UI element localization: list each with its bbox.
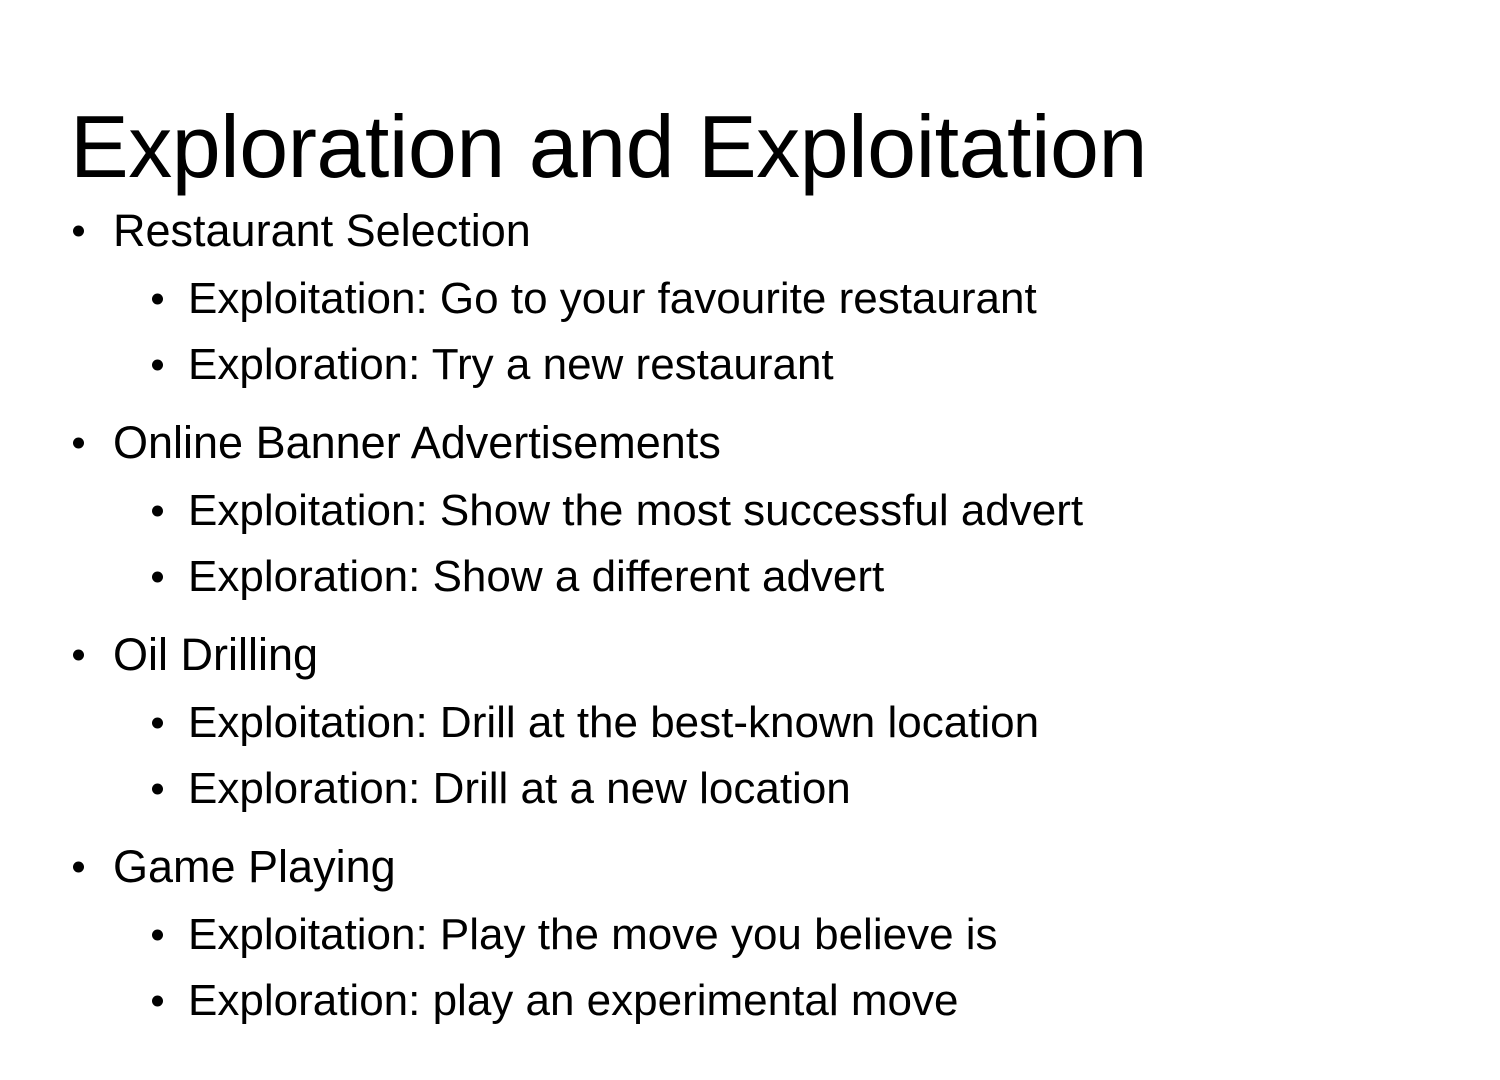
list-item-level2: Exploration: play an experimental move <box>0 968 1500 1034</box>
list-item-level2: Exploration: Try a new restaurant <box>0 332 1500 398</box>
list-item-level2: Exploitation: Drill at the best-known lo… <box>0 690 1500 756</box>
list-item-level2: Exploitation: Play the move you believe … <box>0 902 1500 968</box>
slide-body-list: Restaurant Selection Exploitation: Go to… <box>0 196 1500 1034</box>
list-item-label: Exploitation: Drill at the best-known lo… <box>188 695 1039 751</box>
round-bullet-icon <box>73 650 84 661</box>
list-item-level2: Exploration: Drill at a new location <box>0 756 1500 822</box>
round-bullet-icon <box>152 572 163 583</box>
list-item-level2: Exploitation: Show the most successful a… <box>0 478 1500 544</box>
list-item-level1: Restaurant Selection <box>0 196 1500 266</box>
list-item-label: Oil Drilling <box>113 627 318 683</box>
list-item-label: Restaurant Selection <box>113 203 531 259</box>
round-bullet-icon <box>152 294 163 305</box>
list-item-level1: Oil Drilling <box>0 620 1500 690</box>
round-bullet-icon <box>73 862 84 873</box>
bullet-group-oil-drilling: Oil Drilling Exploitation: Drill at the … <box>0 620 1500 822</box>
list-item-level2: Exploitation: Go to your favourite resta… <box>0 266 1500 332</box>
list-item-level1: Online Banner Advertisements <box>0 408 1500 478</box>
round-bullet-icon <box>152 506 163 517</box>
page-title: Exploration and Exploitation <box>70 91 1430 203</box>
slide: Exploration and Exploitation Restaurant … <box>0 0 1500 1080</box>
bullet-group-online-banner-advertisements: Online Banner Advertisements Exploitatio… <box>0 408 1500 610</box>
bullet-group-game-playing: Game Playing Exploitation: Play the move… <box>0 832 1500 1034</box>
round-bullet-icon <box>152 784 163 795</box>
round-bullet-icon <box>152 930 163 941</box>
list-item-label: Exploration: Drill at a new location <box>188 761 851 817</box>
round-bullet-icon <box>152 718 163 729</box>
list-item-level1: Game Playing <box>0 832 1500 902</box>
list-item-label: Game Playing <box>113 839 396 895</box>
bullet-group-restaurant-selection: Restaurant Selection Exploitation: Go to… <box>0 196 1500 398</box>
round-bullet-icon <box>152 360 163 371</box>
list-item-label: Exploitation: Play the move you believe … <box>188 907 998 963</box>
list-item-label: Exploitation: Show the most successful a… <box>188 483 1083 539</box>
round-bullet-icon <box>73 226 84 237</box>
list-item-level2: Exploration: Show a different advert <box>0 544 1500 610</box>
list-item-label: Exploration: Show a different advert <box>188 549 884 605</box>
list-item-label: Exploration: Try a new restaurant <box>188 337 834 393</box>
list-item-label: Exploitation: Go to your favourite resta… <box>188 271 1037 327</box>
round-bullet-icon <box>73 438 84 449</box>
list-item-label: Exploration: play an experimental move <box>188 973 958 1029</box>
round-bullet-icon <box>152 996 163 1007</box>
list-item-label: Online Banner Advertisements <box>113 415 721 471</box>
